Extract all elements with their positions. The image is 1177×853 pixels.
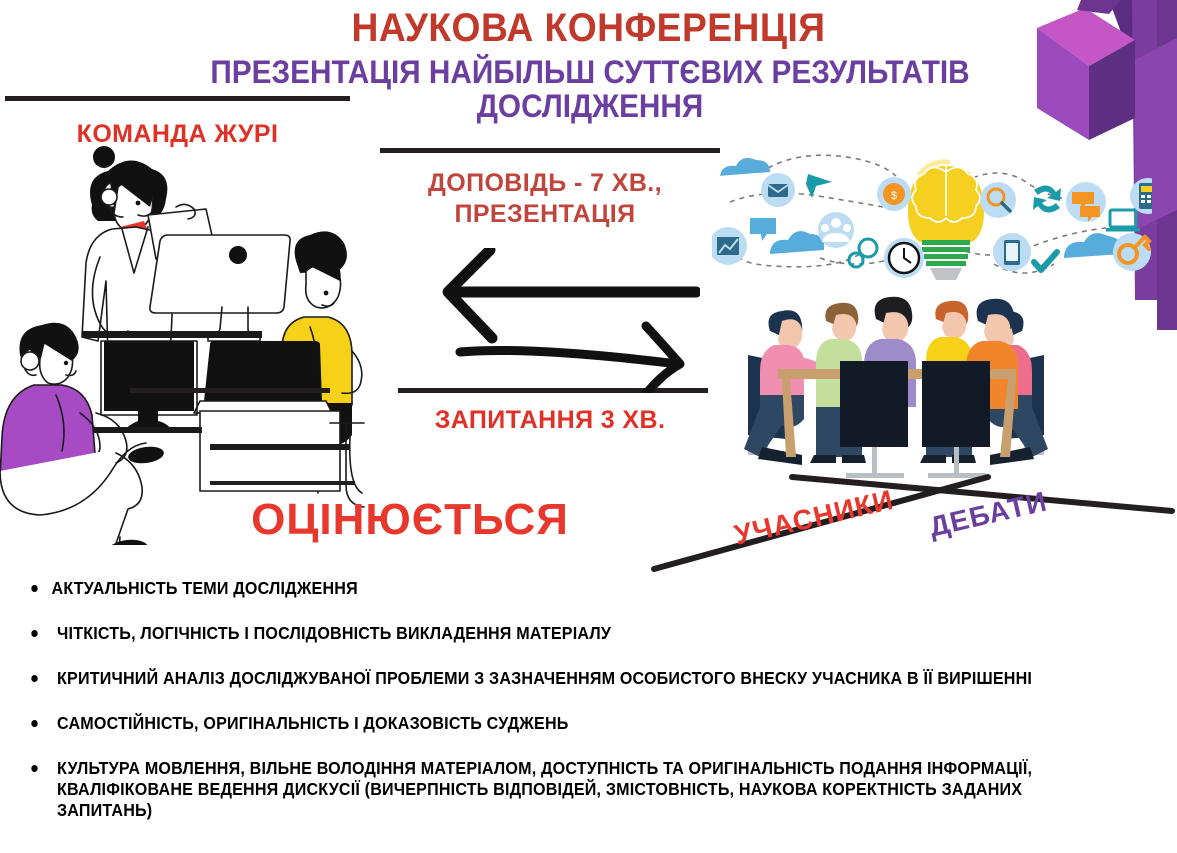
criteria-list: АКТУАЛЬНІСТЬ ТЕМИ ДОСЛІДЖЕННЯ ЧІТКІСТЬ, … — [0, 578, 1177, 845]
magnifier-icon — [980, 182, 1016, 218]
exchange-arrows — [430, 248, 700, 393]
refresh-icon — [1033, 185, 1061, 212]
label-question-time: ЗАПИТАННЯ 3 ХВ. — [390, 406, 710, 435]
mail-icon — [761, 173, 795, 207]
label-evaluated: ОЦІНЮЄТЬСЯ — [200, 495, 620, 545]
key-icon — [1113, 233, 1151, 271]
cloud-icon — [718, 158, 770, 176]
chat-bubble-icon — [750, 218, 776, 241]
list-item: КУЛЬТУРА МОВЛЕННЯ, ВІЛЬНЕ ВОЛОДІННЯ МАТЕ… — [0, 758, 1083, 821]
clock-icon — [884, 238, 924, 278]
idea-network-infographic: $ — [712, 140, 1152, 290]
coin-icon: $ — [877, 177, 911, 211]
speech-bubbles-icon — [1066, 182, 1106, 222]
arrow-left-icon — [448, 250, 696, 338]
list-item: ЧІТКІСТЬ, ЛОГІЧНІСТЬ І ПОСЛІДОВНІСТЬ ВИК… — [0, 623, 1083, 644]
laptop-icon — [1106, 210, 1140, 232]
crossing-lines-decoration — [620, 455, 1177, 580]
label-report-time: ДОПОВІДЬ - 7 ХВ., ПРЕЗЕНТАЦІЯ — [380, 168, 710, 230]
presentation-slide: НАУКОВА КОНФЕРЕНЦІЯ ПРЕЗЕНТАЦІЯ НАЙБІЛЬШ… — [0, 0, 1177, 853]
mobile-phone-icon — [993, 233, 1031, 271]
divider-desk-upper — [130, 388, 330, 393]
jury-team-illustration — [0, 145, 390, 545]
page-title: НАУКОВА КОНФЕРЕНЦІЯ — [41, 6, 1136, 51]
label-jury-team: КОМАНДА ЖУРІ — [0, 120, 355, 149]
cloud-icon-2 — [770, 231, 824, 254]
people-group-icon — [818, 212, 854, 248]
divider-jury — [5, 96, 350, 101]
divider-report — [380, 148, 720, 153]
checkmark-icon — [1034, 252, 1057, 270]
divider-desk-lower — [210, 481, 355, 485]
list-item: АКТУАЛЬНІСТЬ ТЕМИ ДОСЛІДЖЕННЯ — [0, 578, 1083, 599]
list-item: САМОСТІЙНІСТЬ, ОРИГІНАЛЬНІСТЬ І ДОКАЗОВІ… — [0, 713, 1083, 734]
svg-text:$: $ — [891, 190, 897, 202]
page-subtitle: ПРЕЗЕНТАЦІЯ НАЙБІЛЬШ СУТТЄВИХ РЕЗУЛЬТАТІ… — [153, 55, 1027, 123]
list-item: КРИТИЧНИЙ АНАЛІЗ ДОСЛІДЖУВАНОЇ ПРОБЛЕМИ … — [0, 668, 1083, 689]
